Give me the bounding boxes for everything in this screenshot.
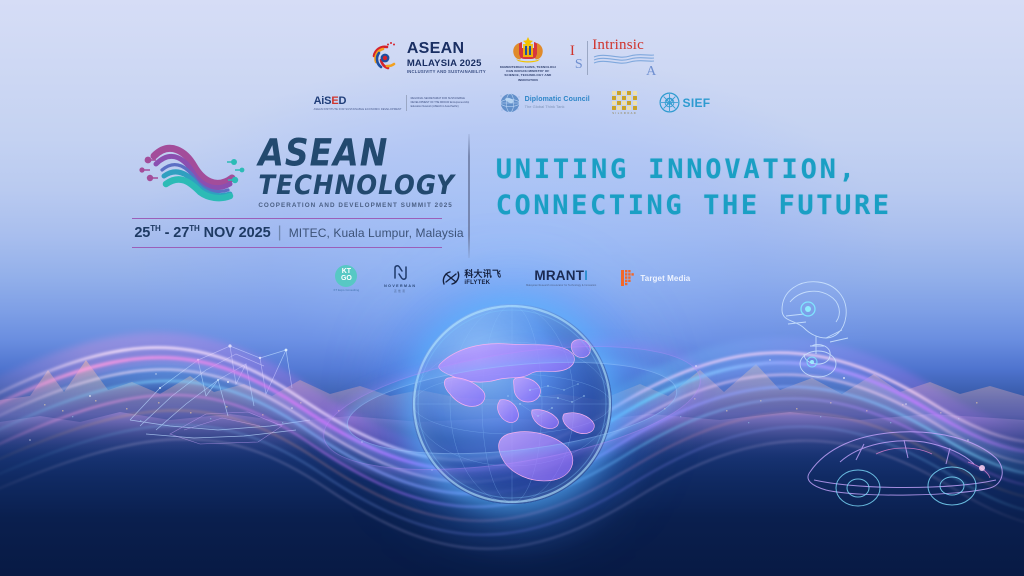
logo-target-media: Target Media	[621, 269, 690, 287]
hero-brand-column: ASEAN TECHNOLOGY COOPERATION AND DEVELOP…	[132, 134, 442, 248]
hero-block: ASEAN TECHNOLOGY COOPERATION AND DEVELOP…	[0, 134, 1024, 258]
event-tagline: UNITING INNOVATION, CONNECTING THE FUTUR…	[496, 152, 892, 223]
iflytek-english: iFLYTEK	[464, 280, 501, 286]
target-media-wordmark: Target Media	[640, 274, 690, 283]
intrinsic-wordmark: Intrinsic	[592, 38, 656, 53]
asean-wordmark: ASEAN MALAYSIA 2025 INCLUSIVITY AND SUST…	[407, 41, 486, 74]
noverman-icon	[391, 263, 410, 282]
aised-part-a: AiS	[314, 95, 332, 107]
target-media-arrow-icon	[621, 269, 636, 287]
date-venue-separator: |	[278, 224, 282, 242]
mranti-subtitle: Malaysian Research Accelerator for Techn…	[526, 284, 596, 287]
aised-subtitle: ASEAN INSTITUTE FOR SUSTAINABLE ECONOMIC…	[314, 108, 402, 111]
asean-technology-wave-icon	[132, 134, 250, 208]
aised-divider	[406, 95, 407, 111]
event-name-line1: ASEAN	[258, 136, 455, 170]
event-wordmark: ASEAN TECHNOLOGY COOPERATION AND DEVELOP…	[258, 134, 455, 209]
asean-line2: MALAYSIA 2025	[407, 59, 486, 69]
malaysia-coat-of-arms-icon	[508, 34, 548, 64]
tagline-line2: CONNECTING THE FUTURE	[496, 188, 892, 224]
event-banner: ASEAN MALAYSIA 2025 INCLUSIVITY AND SUST…	[0, 0, 1024, 576]
aised-description: REGIONAL SECRETARIAT FOR SUSTAINABLE DEV…	[411, 97, 477, 108]
noverman-subtitle: 诺维曼	[394, 289, 407, 293]
mranti-wordmark: MRANTI	[534, 269, 588, 283]
gold-checker-caption: S I L K R O A D	[612, 112, 636, 115]
hero-vertical-divider	[468, 134, 469, 258]
holographic-globe	[412, 304, 612, 504]
diplomatic-council-globe-icon	[499, 92, 521, 114]
date-start-suffix: TH	[150, 224, 160, 233]
asean-swirl-icon	[368, 41, 402, 75]
diplomatic-council-title: Diplomatic Council	[525, 96, 590, 103]
aised-wordmark: AiSED ASEAN INSTITUTE FOR SUSTAINABLE EC…	[314, 95, 402, 111]
mranti-wordmark-accent: I	[584, 268, 588, 283]
sponsor-row-secondary: AiSED ASEAN INSTITUTE FOR SUSTAINABLE EC…	[314, 91, 711, 115]
gold-checker-icon	[612, 91, 637, 111]
isa-divider	[587, 41, 589, 75]
iflytek-wordmark: 科大讯飞 iFLYTEK	[464, 270, 501, 286]
sponsor-row-primary: ASEAN MALAYSIA 2025 INCLUSIVITY AND SUST…	[368, 34, 656, 82]
ministry-caption: KEMENTERIAN SAINS, TEKNOLOGI DAN INOVASI…	[500, 65, 556, 82]
aised-letters: AiSED	[314, 95, 347, 107]
isa-initials: I S	[570, 44, 583, 72]
diplomatic-council-subtitle: The Global Think Tank	[525, 104, 590, 109]
kt-go-badge-icon: KT GO	[335, 265, 357, 287]
hero-tagline-column: UNITING INNOVATION, CONNECTING THE FUTUR…	[496, 134, 892, 223]
event-venue: MITEC, Kuala Lumpur, Malaysia	[289, 226, 464, 240]
date-end-suffix: TH	[189, 224, 199, 233]
partner-logo-row: KT GO KT Expo Consulting NOVERMAN 诺维曼	[0, 263, 1024, 293]
logo-isa-intrinsic: I S Intrinsic	[570, 39, 656, 77]
event-date-venue-bar: 25TH - 27TH NOV 2025 | MITEC, Kuala Lump…	[132, 218, 442, 248]
logo-ministry-mosti: KEMENTERIAN SAINS, TEKNOLOGI DAN INOVASI…	[500, 34, 556, 82]
asean-line1: ASEAN	[407, 41, 486, 57]
logo-sief: SIEF	[659, 92, 711, 113]
aised-part-d: D	[338, 95, 346, 107]
logo-mranti: MRANTI Malaysian Research Accelerator fo…	[526, 269, 596, 288]
event-name-line3: COOPERATION AND DEVELOPMENT SUMMIT 2025	[258, 203, 455, 209]
isa-letter-s: S	[575, 58, 583, 71]
sief-wordmark: SIEF	[683, 96, 711, 110]
diplomatic-council-text: Diplomatic Council The Global Think Tank	[525, 96, 590, 109]
logo-gold-checker: S I L K R O A D	[612, 91, 637, 115]
iflytek-icon	[441, 269, 461, 287]
logo-diplomatic-council: Diplomatic Council The Global Think Tank	[499, 92, 590, 114]
mranti-wordmark-main: MRANT	[534, 268, 584, 283]
event-name-line2: TECHNOLOGY	[258, 173, 455, 198]
logo-noverman: NOVERMAN 诺维曼	[384, 263, 416, 293]
kt-go-caption: KT Expo Consulting	[334, 289, 360, 292]
date-end: - 27	[161, 225, 190, 241]
isa-wordmark-group: Intrinsic A	[592, 38, 656, 77]
kt-go-line2: GO	[341, 276, 352, 283]
sponsor-logo-bar: ASEAN MALAYSIA 2025 INCLUSIVITY AND SUST…	[0, 34, 1024, 115]
logo-aised: AiSED ASEAN INSTITUTE FOR SUSTAINABLE EC…	[314, 95, 477, 111]
sief-snowflake-icon	[659, 92, 680, 113]
event-dates: 25TH - 27TH NOV 2025	[134, 224, 270, 241]
iflytek-chinese: 科大讯飞	[464, 270, 501, 279]
event-logo: ASEAN TECHNOLOGY COOPERATION AND DEVELOP…	[132, 134, 442, 209]
isa-letter-i: I	[570, 44, 583, 58]
asean-line3: INCLUSIVITY AND SUSTAINABILITY	[407, 70, 486, 74]
logo-asean-malaysia-2025: ASEAN MALAYSIA 2025 INCLUSIVITY AND SUST…	[368, 41, 486, 75]
futuristic-car-graphic	[800, 400, 1015, 520]
logo-kt-go: KT GO KT Expo Consulting	[334, 265, 360, 292]
date-start: 25	[134, 225, 150, 241]
tagline-line1: UNITING INNOVATION,	[496, 152, 892, 188]
logo-iflytek: 科大讯飞 iFLYTEK	[441, 269, 501, 287]
isa-letter-a: A	[592, 66, 656, 77]
noverman-wordmark: NOVERMAN	[384, 284, 416, 288]
date-month-year: NOV 2025	[200, 225, 271, 241]
